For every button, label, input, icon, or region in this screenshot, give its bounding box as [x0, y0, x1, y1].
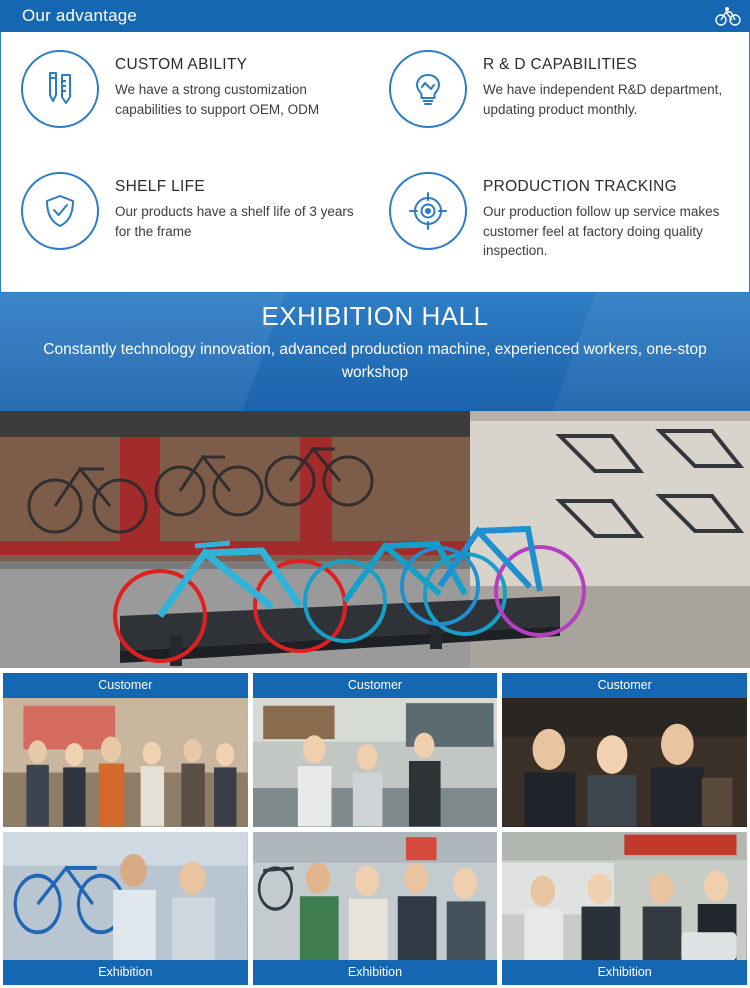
advantage-desc: Our products have a shelf life of 3 year… [115, 202, 365, 241]
customer-group-photo-2 [253, 698, 498, 827]
gallery-caption: Customer [502, 673, 747, 698]
advantage-section: CUSTOM ABILITY We have a strong customiz… [0, 32, 750, 293]
page-root: Our advantage [0, 0, 750, 988]
advantage-text: CUSTOM ABILITY We have a strong customiz… [115, 50, 365, 119]
advantage-text: PRODUCTION TRACKING Our production follo… [483, 172, 733, 261]
exhibition-booth-photo-1 [3, 832, 248, 961]
exhibition-hall-photo [0, 411, 750, 668]
photo-gallery: Customer Customer [0, 668, 750, 988]
advantage-desc: We have independent R&D department, upda… [483, 80, 733, 119]
gallery-caption: Exhibition [253, 960, 498, 985]
gallery-card-exhibition-1: Exhibition [3, 832, 248, 986]
gallery-caption: Customer [3, 673, 248, 698]
advantage-title: SHELF LIFE [115, 178, 365, 196]
advantage-title: CUSTOM ABILITY [115, 56, 365, 74]
customer-group-photo-1 [3, 698, 248, 827]
advantage-text: R & D CAPABILITIES We have independent R… [483, 50, 733, 119]
advantage-title: R & D CAPABILITIES [483, 56, 733, 74]
gallery-card-exhibition-2: Exhibition [253, 832, 498, 986]
lightbulb-idea-icon [389, 50, 467, 128]
exhibition-hall-title: EXHIBITION HALL [0, 301, 750, 332]
advantage-header: Our advantage [0, 0, 750, 32]
gallery-caption: Exhibition [502, 960, 747, 985]
gallery-caption: Exhibition [3, 960, 248, 985]
advantage-item-rd-capabilities: R & D CAPABILITIES We have independent R… [375, 42, 743, 164]
shield-check-icon [21, 172, 99, 250]
customer-group-photo-3 [502, 698, 747, 827]
gallery-card-customer-1: Customer [3, 673, 248, 827]
exhibition-hall-section: EXHIBITION HALL Constantly technology in… [0, 293, 750, 668]
pencil-ruler-icon [21, 50, 99, 128]
gallery-card-customer-2: Customer [253, 673, 498, 827]
gallery-card-customer-3: Customer [502, 673, 747, 827]
page-title: Our advantage [22, 6, 137, 26]
target-crosshair-icon [389, 172, 467, 250]
exhibition-hall-banner: EXHIBITION HALL Constantly technology in… [0, 293, 750, 411]
advantage-item-production-tracking: PRODUCTION TRACKING Our production follo… [375, 164, 743, 286]
advantage-title: PRODUCTION TRACKING [483, 178, 733, 196]
advantage-item-shelf-life: SHELF LIFE Our products have a shelf lif… [7, 164, 375, 286]
advantage-item-custom-ability: CUSTOM ABILITY We have a strong customiz… [7, 42, 375, 164]
bicycle-icon [714, 3, 742, 29]
gallery-card-exhibition-3: Exhibition [502, 832, 747, 986]
exhibition-booth-photo-3 [502, 832, 747, 961]
exhibition-hall-subtitle: Constantly technology innovation, advanc… [0, 338, 750, 385]
advantage-text: SHELF LIFE Our products have a shelf lif… [115, 172, 365, 241]
advantage-grid: CUSTOM ABILITY We have a strong customiz… [7, 42, 743, 286]
advantage-desc: We have a strong customization capabilit… [115, 80, 365, 119]
exhibition-booth-photo-2 [253, 832, 498, 961]
advantage-desc: Our production follow up service makes c… [483, 202, 733, 261]
gallery-caption: Customer [253, 673, 498, 698]
